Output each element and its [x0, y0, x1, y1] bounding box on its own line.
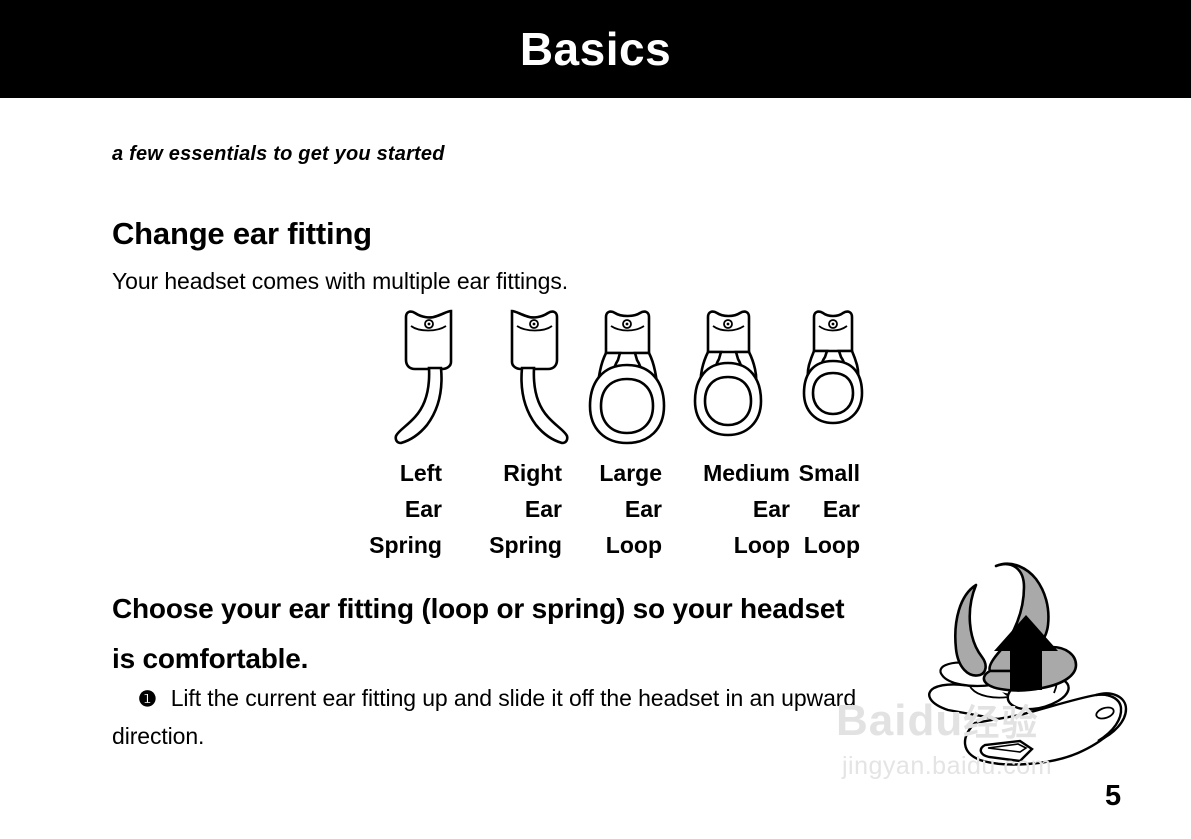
left-ear-spring-icon — [385, 305, 480, 450]
label-small-ear-loop: Small Ear Loop — [790, 455, 860, 563]
label-line-1: Small — [790, 455, 860, 491]
label-line-1: Left — [330, 455, 442, 491]
section-heading: Change ear fitting — [112, 216, 372, 252]
label-line-3: Loop — [660, 527, 790, 563]
label-line-1: Large — [566, 455, 662, 491]
ear-fitting-labels: Left Ear Spring Right Ear Spring Large E… — [330, 455, 880, 560]
page-number: 5 — [1105, 780, 1121, 813]
instruction-heading: Choose your ear fitting (loop or spring)… — [112, 584, 872, 684]
label-left-ear-spring: Left Ear Spring — [330, 455, 442, 563]
small-ear-loop-icon — [785, 305, 880, 450]
page-title: Basics — [520, 26, 671, 72]
instruction-step-1: ❶Lift the current ear fitting up and sli… — [112, 680, 902, 754]
manual-page: Basics a few essentials to get you start… — [0, 0, 1191, 839]
large-ear-loop-icon — [580, 305, 675, 450]
label-line-2: Ear — [790, 491, 860, 527]
step-text: Lift the current ear fitting up and slid… — [112, 685, 856, 749]
label-line-2: Ear — [450, 491, 562, 527]
label-line-3: Loop — [566, 527, 662, 563]
label-line-1: Right — [450, 455, 562, 491]
label-line-3: Spring — [450, 527, 562, 563]
page-tagline: a few essentials to get you started — [112, 143, 445, 166]
headset-lift-illustration — [900, 555, 1191, 790]
medium-ear-loop-icon — [680, 305, 775, 450]
label-line-1: Medium — [660, 455, 790, 491]
label-line-3: Spring — [330, 527, 442, 563]
ear-fitting-illustrations — [340, 305, 880, 450]
right-ear-spring-icon — [483, 305, 578, 450]
label-line-2: Ear — [330, 491, 442, 527]
label-line-2: Ear — [660, 491, 790, 527]
label-right-ear-spring: Right Ear Spring — [450, 455, 562, 563]
section-body-text: Your headset comes with multiple ear fit… — [112, 268, 568, 295]
label-large-ear-loop: Large Ear Loop — [566, 455, 662, 563]
label-line-3: Loop — [790, 527, 860, 563]
step-number-badge: ❶ — [112, 688, 171, 711]
label-line-2: Ear — [566, 491, 662, 527]
page-header: Basics — [0, 0, 1191, 98]
label-medium-ear-loop: Medium Ear Loop — [660, 455, 790, 563]
